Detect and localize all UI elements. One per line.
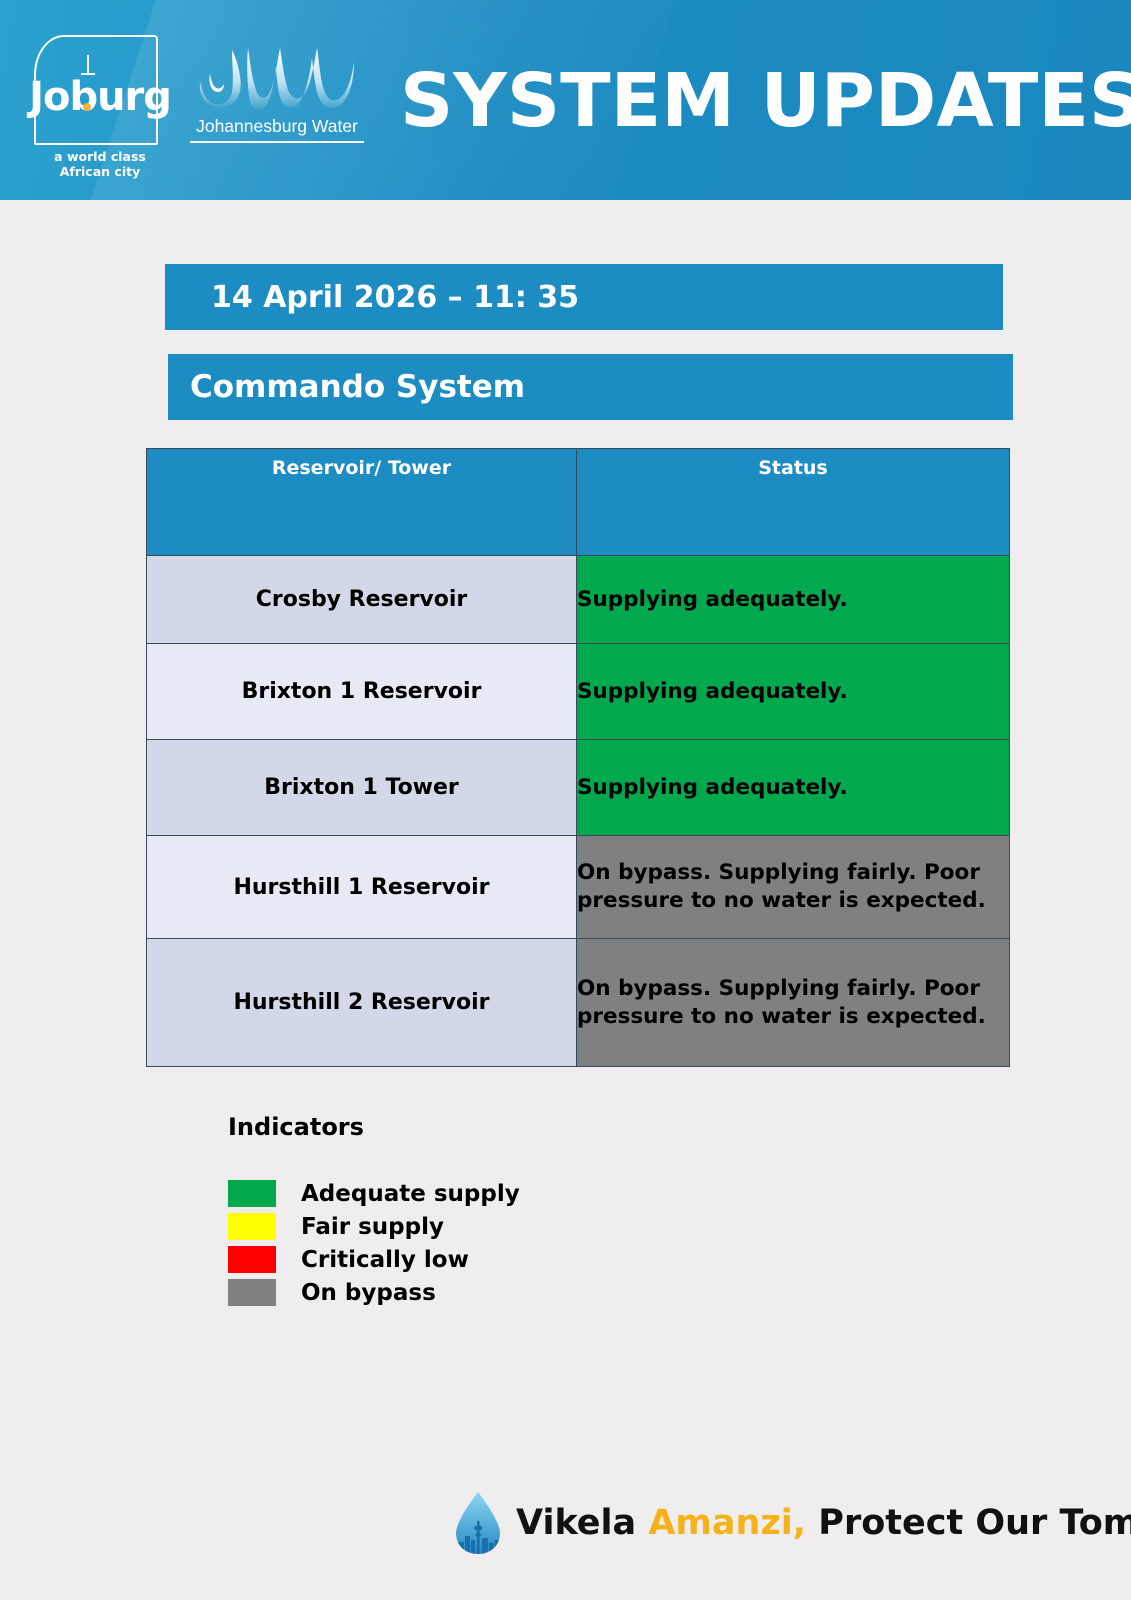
reservoir-status-table: Reservoir/ Tower Status Crosby Reservoir… bbox=[146, 448, 1010, 1067]
table-row: Brixton 1 Reservoir Supplying adequately… bbox=[147, 644, 1010, 740]
table-row: Hursthill 1 Reservoir On bypass. Supplyi… bbox=[147, 836, 1010, 939]
system-name-bar: Commando System bbox=[168, 354, 1013, 420]
footer-text: Vikela Amanzi, Protect Our Tomorrow bbox=[516, 1503, 1131, 1543]
johannesburg-water-underline bbox=[190, 141, 364, 143]
legend-label: Critically low bbox=[301, 1247, 469, 1273]
legend-swatch-yellow bbox=[228, 1213, 276, 1240]
legend-item-fair-supply: Fair supply bbox=[228, 1210, 648, 1243]
indicators-legend: Indicators Adequate supply Fair supply C… bbox=[228, 1113, 648, 1309]
page-title: SYSTEM UPDATES bbox=[400, 58, 1131, 144]
cell-status: Supplying adequately. bbox=[577, 644, 1010, 740]
column-header-reservoir-tower: Reservoir/ Tower bbox=[147, 449, 577, 556]
cell-reservoir-name: Crosby Reservoir bbox=[147, 556, 577, 644]
water-wave-icon bbox=[188, 40, 366, 118]
column-header-status: Status bbox=[577, 449, 1010, 556]
joburg-spire-icon bbox=[87, 55, 89, 75]
legend-swatch-red bbox=[228, 1246, 276, 1273]
water-drop-skyline-icon bbox=[452, 1490, 504, 1556]
table-row: Crosby Reservoir Supplying adequately. bbox=[147, 556, 1010, 644]
legend-item-critically-low: Critically low bbox=[228, 1243, 648, 1276]
cell-status: Supplying adequately. bbox=[577, 740, 1010, 836]
legend-label: Fair supply bbox=[301, 1214, 444, 1240]
footer-tagline: Vikela Amanzi, Protect Our Tomorrow bbox=[452, 1490, 1131, 1556]
table-row: Brixton 1 Tower Supplying adequately. bbox=[147, 740, 1010, 836]
page-header-banner: Joburg a world class African city Johann… bbox=[0, 0, 1131, 200]
cell-reservoir-name: Hursthill 2 Reservoir bbox=[147, 939, 577, 1067]
joburg-dot-icon bbox=[83, 103, 91, 111]
cell-reservoir-name: Brixton 1 Reservoir bbox=[147, 644, 577, 740]
joburg-logo: Joburg a world class African city bbox=[30, 33, 170, 183]
footer-text-accent: Amanzi, bbox=[648, 1503, 806, 1543]
legend-label: On bypass bbox=[301, 1280, 436, 1306]
cell-reservoir-name: Brixton 1 Tower bbox=[147, 740, 577, 836]
cell-status: On bypass. Supplying fairly. Poor pressu… bbox=[577, 836, 1010, 939]
legend-swatch-grey bbox=[228, 1279, 276, 1306]
date-bar: 14 April 2026 – 11: 35 bbox=[165, 264, 1003, 330]
footer-text-part1: Vikela bbox=[516, 1503, 648, 1543]
cell-status: Supplying adequately. bbox=[577, 556, 1010, 644]
legend-label: Adequate supply bbox=[301, 1181, 520, 1207]
legend-item-adequate-supply: Adequate supply bbox=[228, 1177, 648, 1210]
table-row: Hursthill 2 Reservoir On bypass. Supplyi… bbox=[147, 939, 1010, 1067]
cell-status: On bypass. Supplying fairly. Poor pressu… bbox=[577, 939, 1010, 1067]
joburg-wordmark: Joburg bbox=[29, 77, 171, 117]
table-header-row: Reservoir/ Tower Status bbox=[147, 449, 1010, 556]
cell-reservoir-name: Hursthill 1 Reservoir bbox=[147, 836, 577, 939]
legend-item-on-bypass: On bypass bbox=[228, 1276, 648, 1309]
indicators-title: Indicators bbox=[228, 1113, 648, 1141]
footer-text-part2: Protect Our Tomorrow bbox=[806, 1503, 1131, 1543]
johannesburg-water-wordmark: Johannesburg Water bbox=[188, 116, 366, 137]
johannesburg-water-logo: Johannesburg Water bbox=[188, 40, 366, 155]
legend-swatch-green bbox=[228, 1180, 276, 1207]
joburg-tagline: a world class African city bbox=[30, 149, 170, 179]
